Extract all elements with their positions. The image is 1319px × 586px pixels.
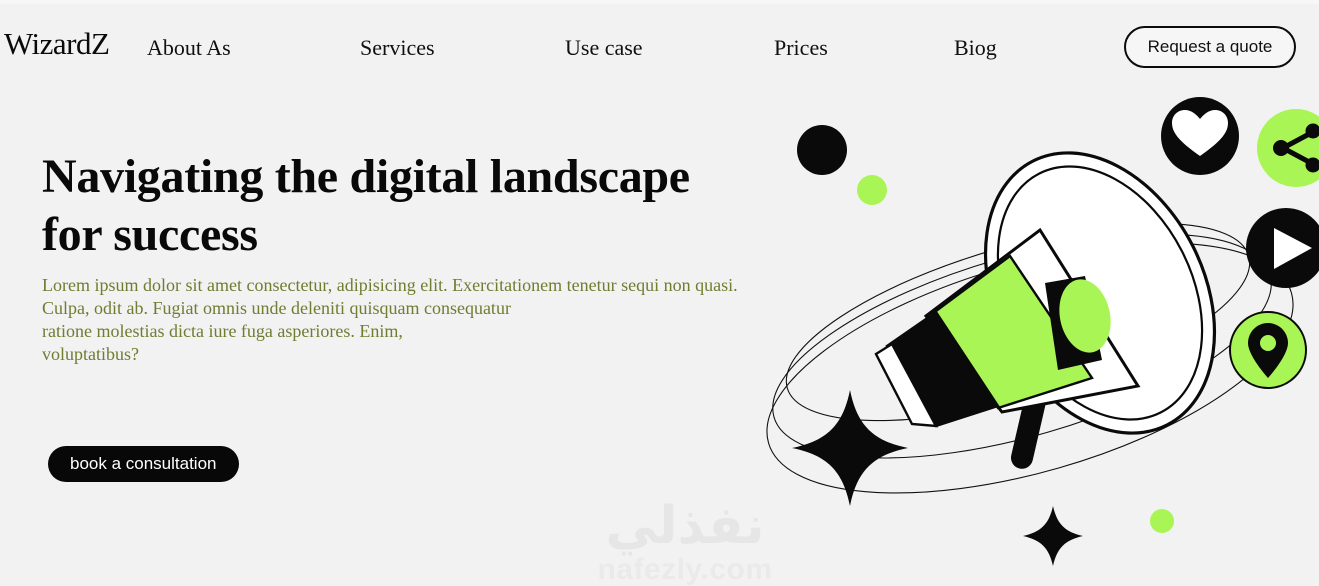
- small-sparkle: [1023, 506, 1083, 566]
- main-navigation-bar: WizardZ About As Services Use case Price…: [0, 0, 1319, 90]
- nav-item-services[interactable]: Services: [360, 35, 435, 61]
- book-a-consultation-button[interactable]: book a consultation: [48, 446, 239, 482]
- megaphone-illustration: [740, 78, 1319, 586]
- request-a-quote-button[interactable]: Request a quote: [1124, 26, 1296, 68]
- large-sparkle: [792, 390, 908, 506]
- nav-item-prices[interactable]: Prices: [774, 35, 828, 61]
- green-circle-accent-bottom: [1150, 509, 1174, 533]
- brand-logo[interactable]: WizardZ: [4, 26, 109, 62]
- nav-item-biog[interactable]: Biog: [954, 35, 997, 61]
- green-circle-accent-top: [857, 175, 887, 205]
- nav-item-about-as[interactable]: About As: [147, 35, 231, 61]
- location-pin-icon-badge: [1230, 312, 1306, 388]
- play-icon-badge: [1246, 208, 1319, 288]
- hero-description: Lorem ipsum dolor sit amet consectetur, …: [42, 274, 742, 366]
- black-circle-accent: [797, 125, 847, 175]
- heart-icon-badge: [1161, 97, 1239, 175]
- nav-item-use-case[interactable]: Use case: [565, 35, 643, 61]
- page-title: Navigating the digital landscape for suc…: [42, 148, 742, 264]
- hero-text-block: Navigating the digital landscape for suc…: [42, 148, 742, 366]
- share-icon-badge: [1257, 109, 1319, 187]
